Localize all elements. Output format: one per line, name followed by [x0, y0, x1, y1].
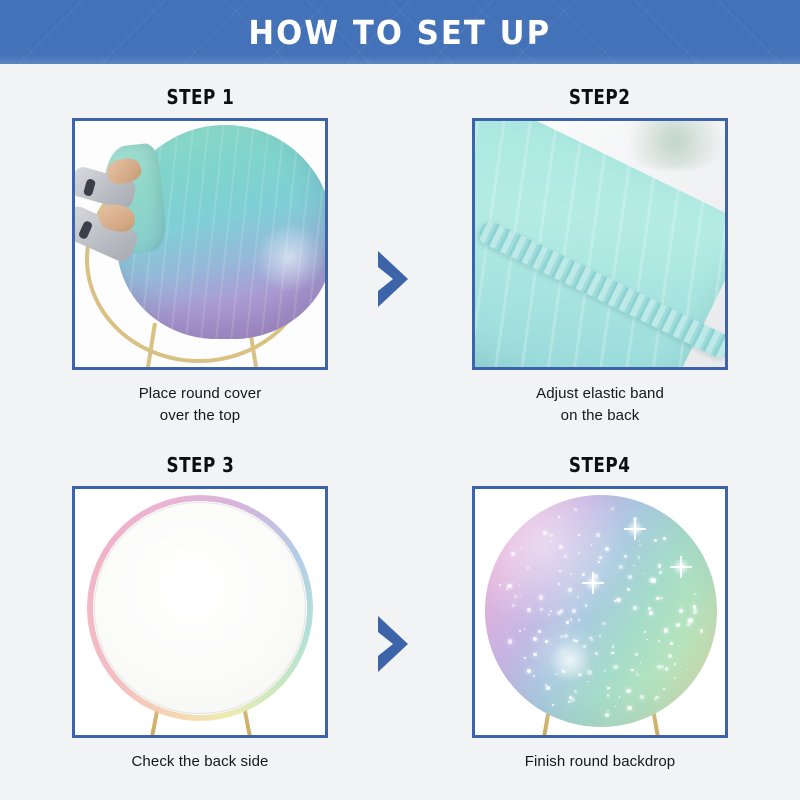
step-card-3: STEP 3 Check the back side	[0, 432, 400, 800]
step-caption-1-line2: over the top	[139, 405, 262, 427]
step-heading-2: STEP2	[569, 85, 631, 109]
step-card-1: STEP 1 Place round cover over t	[0, 64, 400, 432]
step-card-4: STEP4 Finish round backdrop	[400, 432, 800, 800]
sparkle-icon	[583, 573, 603, 593]
step-photo-frame-1	[72, 118, 328, 370]
step-photo-4	[475, 489, 725, 735]
step-photo-1	[75, 121, 325, 367]
step-caption-1: Place round cover over the top	[139, 383, 262, 427]
page-title: HOW TO SET UP	[249, 13, 552, 52]
chevron-right-icon-1	[372, 247, 414, 311]
step-heading-1: STEP 1	[166, 85, 234, 109]
chevron-right-icon-2	[372, 612, 414, 676]
step-caption-3-line1: Check the back side	[132, 751, 269, 773]
step-caption-4-line1: Finish round backdrop	[525, 751, 676, 773]
step-heading-4: STEP4	[569, 453, 631, 477]
sparkle-icon	[671, 557, 691, 577]
bokeh-glow	[547, 641, 593, 681]
sparkle-icon	[625, 519, 645, 539]
page-header: HOW TO SET UP	[0, 0, 800, 64]
step-caption-4: Finish round backdrop	[525, 751, 676, 773]
pastel-rainbow-rim	[87, 495, 313, 721]
step-heading-3: STEP 3	[166, 453, 234, 477]
step-photo-frame-2	[472, 118, 728, 370]
header-bottom-sheen	[0, 55, 800, 64]
star-field	[485, 495, 717, 727]
finished-backdrop-disc	[485, 495, 717, 727]
step-caption-2-line1: Adjust elastic band	[536, 383, 664, 405]
step-photo-frame-3	[72, 486, 328, 738]
step-caption-2: Adjust elastic band on the back	[536, 383, 664, 427]
step-photo-2	[475, 121, 725, 367]
step-photo-frame-4	[472, 486, 728, 738]
step-photo-3	[75, 489, 325, 735]
step-caption-3: Check the back side	[132, 751, 269, 773]
step-caption-1-line1: Place round cover	[139, 383, 262, 405]
steps-grid: STEP 1 Place round cover over t	[0, 64, 800, 800]
step-card-2: STEP2 Adjust elastic band on the back	[400, 64, 800, 432]
step-caption-2-line2: on the back	[536, 405, 664, 427]
